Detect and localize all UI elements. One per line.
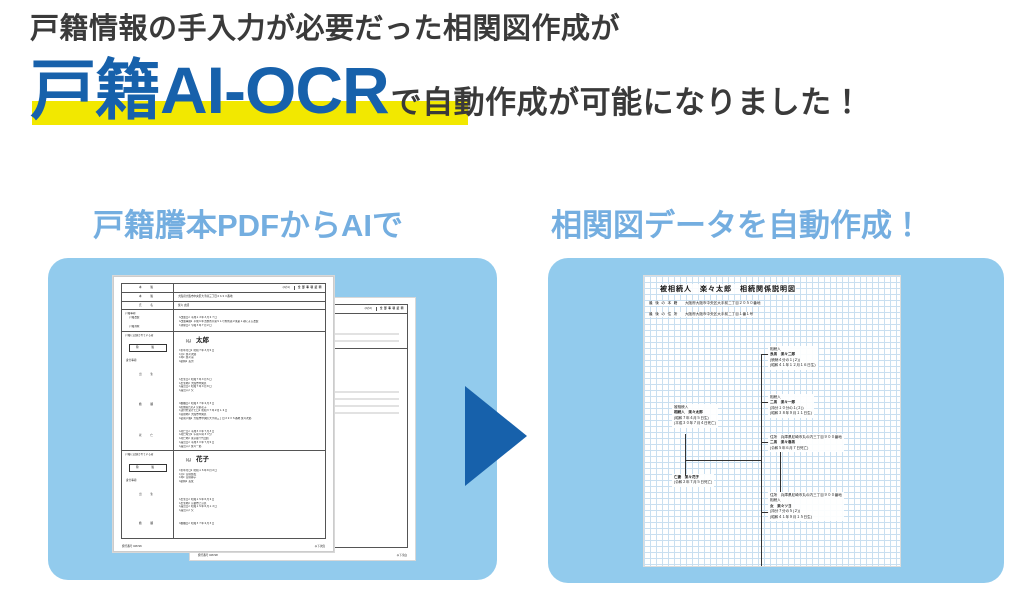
person1-e1-f4: 【届出人】父 xyxy=(178,389,323,393)
chart-header-value-1: 大阪府大阪市中央区大手前二丁目２０５０番地 xyxy=(685,301,760,305)
doc-row-name-label: 氏 名 xyxy=(122,302,174,310)
person1-name: 太郎 xyxy=(196,337,209,344)
person1-name-mark: 【名】 xyxy=(184,339,193,343)
person2-status-box: 除 籍 xyxy=(129,464,167,472)
back-footer: 発行番号 046728 以下余白 xyxy=(198,553,407,557)
person2-e2-f1: 【婚姻日】昭和３７年２月３日 xyxy=(178,522,323,526)
node-spouse: 亡妻 楽々花子 (令和２年７月５日死亡) xyxy=(672,474,714,487)
headline-line-2: 戸籍AI-OCR で自動作成が可能になりました！ xyxy=(30,54,994,139)
person1-event-title-3: 死 亡 xyxy=(125,434,171,438)
person2-event-title-1: 出 生 xyxy=(125,493,171,497)
doc-person-2: 戸籍に記録されている者 除 籍 身分事項 出 生 婚 姻 【名】花子 【生年月日… xyxy=(122,451,325,538)
chart-header-row-1: 最後の本籍大阪府大阪市中央区大手前二丁目２０５０番地 xyxy=(649,301,760,306)
person2-event-label: 身分事項 xyxy=(125,479,171,483)
register-label-2: 戸籍改製 xyxy=(125,316,171,320)
headline-brand-text: 戸籍AI-OCR xyxy=(30,54,389,126)
doc-certificate-label: 全部事項証明 xyxy=(294,286,323,290)
doc-row-honseki-label: 本 籍 xyxy=(122,293,174,301)
doc-header-row: 本 籍 (2の1) 全部事項証明 xyxy=(122,284,325,293)
right-arrow-icon xyxy=(465,386,527,486)
person1-e3-f5: 【届出人】楽々一郎 xyxy=(178,445,323,449)
doc-header-label: 本 籍 xyxy=(122,284,174,292)
person2-event-title-2: 婚 姻 xyxy=(125,522,171,526)
person1-event-label: 身分事項 xyxy=(125,359,171,363)
left-section-caption: 戸籍謄本PDFからAIで xyxy=(93,200,403,245)
person2-side-column: 戸籍に記録されている者 除 籍 身分事項 出 生 婚 姻 xyxy=(122,451,174,538)
doc-footer: 発行番号 046726 以下次頁 xyxy=(122,544,325,548)
person2-name-line: 【名】花子 xyxy=(184,455,323,464)
node-child-2: 相続人 二男 楽々一郎 (持分１０分の１(２)) (昭和３８年９月１１日生) xyxy=(768,394,814,418)
child-2-line-2: (昭和３８年９月１１日生) xyxy=(770,411,812,416)
headline-block: 戸籍情報の手入力が必要だった相関図作成が 戸籍AI-OCR で自動作成が可能にな… xyxy=(30,8,994,139)
descendant-link-line xyxy=(780,452,781,492)
person1-side-column: 戸籍に記録されている者 除 籍 身分事項 出 生 婚 姻 死 亡 xyxy=(122,332,174,451)
doc-row-name: 氏 名 楽々 太郎 xyxy=(122,302,325,311)
back-page-mark: (2の2) xyxy=(365,307,372,311)
back-certificate-label: 全部事項証明 xyxy=(376,307,405,311)
person2-detail-column: 【名】花子 【生年月日】昭和１５年８月２日 【父】宮前徳松 【母】宮前静子 【続… xyxy=(174,451,325,538)
chart-header-key-1: 最後の本籍 xyxy=(649,301,680,305)
doc-row-name-label-text: 氏 名 xyxy=(125,304,171,308)
person1-event-title-1: 出 生 xyxy=(125,373,171,377)
child-1-line-2: (昭和４１年１２月１６日生) xyxy=(770,363,816,368)
chart-header-key-2: 最後の住所 xyxy=(649,312,680,316)
child-3-line-1: (令和５年６月７日死亡) xyxy=(770,446,842,451)
doc-row-honseki: 本 籍 大阪府大阪市中央区大手前三丁目２６５０番地 xyxy=(122,293,325,302)
person1-event-title-2: 婚 姻 xyxy=(125,403,171,407)
doc-register-fields: 【改製日】平成１４年４月２７日 【改製事由】平成６年法務省令第５１号附則第２条第… xyxy=(174,310,325,330)
doc-footer-right: 以下次頁 xyxy=(315,544,325,548)
register-label-3: 戸籍消除 xyxy=(125,325,171,329)
chart-title: 被相続人 楽々太郎 相続関係説明図 xyxy=(660,284,796,294)
children-spine-line xyxy=(761,354,762,512)
doc-page-mark: (2の1) xyxy=(283,286,290,290)
koseki-front-page: 本 籍 (2の1) 全部事項証明 本 籍 大阪府大阪市中央区大手前三丁目２６５０… xyxy=(113,276,334,552)
koseki-front-body: 本 籍 (2の1) 全部事項証明 本 籍 大阪府大阪市中央区大手前三丁目２６５０… xyxy=(121,283,326,539)
doc-register-labels: 戸籍事項 戸籍改製 戸籍消除 xyxy=(122,310,174,330)
child-4-line-2: (昭和４１年９月１５日生) xyxy=(770,515,842,520)
person2-name: 花子 xyxy=(196,456,209,463)
person1-section-label: 戸籍に記録されている者 xyxy=(125,334,171,338)
back-footer-right: 以下余白 xyxy=(397,553,407,557)
doc-row-register-events: 戸籍事項 戸籍改製 戸籍消除 【改製日】平成１４年４月２７日 【改製事由】平成６… xyxy=(122,310,325,331)
doc-person-1: 戸籍に記録されている者 除 籍 身分事項 出 生 婚 姻 死 亡 【名】太郎 【… xyxy=(122,332,325,452)
spouse-line-1: (令和２年７月５日死亡) xyxy=(674,480,712,485)
person1-detail-column: 【名】太郎 【生年月日】昭和７年４月５日 【父】楽々次郎 【母】楽々菊 【続柄】… xyxy=(174,332,325,451)
person1-field-4: 【続柄】長男 xyxy=(178,360,323,364)
decedent-line-2: (平成３０年７月４日死亡) xyxy=(674,421,716,426)
person1-e2-f5: 【従前戸籍】大阪市中央区大手前三丁目４２０５番地 楽々次郎 xyxy=(178,417,323,421)
doc-row-honseki-value: 大阪府大阪市中央区大手前三丁目２６５０番地 xyxy=(174,293,325,301)
doc-row-honseki-label-text: 本 籍 xyxy=(125,295,171,299)
doc-header-label-text: 本 籍 xyxy=(125,286,171,290)
headline-tail-text: で自動作成が可能になりました！ xyxy=(391,67,864,139)
person2-e1-f4: 【届出人】父 xyxy=(178,509,323,513)
right-section-caption: 相関図データを自動作成！ xyxy=(551,200,923,245)
chart-header-row-2: 最後の住所大阪府大阪市中央区大手前二丁目１番１号 xyxy=(649,312,753,317)
node-child-1: 相続人 長男 楽々二郎 (続柄４分の１(２)) (昭和４１年１２月１６日生) xyxy=(768,346,818,370)
person1-name-line: 【名】太郎 xyxy=(184,336,323,345)
person2-name-mark: 【名】 xyxy=(184,458,193,462)
person2-field-4: 【続柄】長女 xyxy=(178,480,323,484)
headline-line-1: 戸籍情報の手入力が必要だった相関図作成が xyxy=(30,8,994,50)
relationship-chart-sheet: 被相続人 楽々太郎 相続関係説明図 最後の本籍大阪府大阪市中央区大手前二丁目２０… xyxy=(644,276,900,566)
back-footer-left: 発行番号 046728 xyxy=(198,553,218,557)
node-child-4: 住所 兵庫県尼崎市丸の内三丁目９００番地 相続人 女 楽々ツヨ (持分７分の５(… xyxy=(768,492,844,521)
marriage-vertical-line xyxy=(685,434,686,476)
marriage-horizontal-line xyxy=(685,460,761,461)
chart-header-value-2: 大阪府大阪市中央区大手前二丁目１番１号 xyxy=(685,312,753,316)
doc-footer-left: 発行番号 046726 xyxy=(122,544,142,548)
children-spine-line-lower xyxy=(761,512,762,566)
doc-row-name-value: 楽々 太郎 xyxy=(174,302,325,310)
node-child-3: 住所 兵庫県尼崎市丸の内三丁目９００番地 二男 楽々春男 (令和５年６月７日死亡… xyxy=(768,434,844,452)
person1-status-box: 除 籍 xyxy=(129,344,167,352)
person2-section-label: 戸籍に記録されている者 xyxy=(125,453,171,457)
node-decedent: 被相続人 相続人 楽々太郎 (昭和７年４月５日生) (平成３０年７月４日死亡) xyxy=(672,404,718,428)
doc-title-bar: (2の1) 全部事項証明 xyxy=(174,284,325,292)
register-field-3: 【消除日】令和３年７月２日 xyxy=(178,324,323,328)
